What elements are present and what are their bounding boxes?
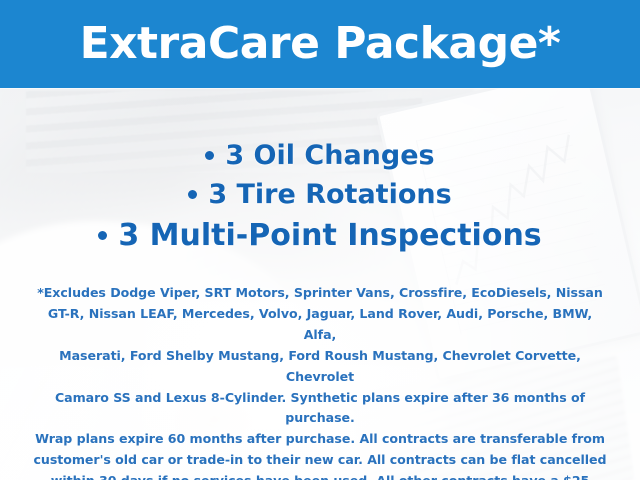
benefits-list: 3 Oil Changes 3 Tire Rotations 3 Multi-P… [0,140,640,253]
bullet-dot-icon [188,190,197,199]
disclaimer-text: *Excludes Dodge Viper, SRT Motors, Sprin… [33,283,608,480]
benefit-label: 3 Multi-Point Inspections [118,218,541,253]
header-banner: ExtraCare Package* [0,0,640,88]
benefit-item-oil-changes: 3 Oil Changes [205,140,434,172]
extracare-package-ad: ExtraCare Package* 3 Oil Changes 3 Tire … [0,0,640,480]
disclaimer-line: customer's old car or trade-in to their … [33,450,608,471]
page-title: ExtraCare Package* [80,22,561,66]
bullet-dot-icon [98,231,107,240]
disclaimer-line: Maserati, Ford Shelby Mustang, Ford Rous… [33,346,608,388]
disclaimer-line: GT-R, Nissan LEAF, Mercedes, Volvo, Jagu… [33,304,608,346]
benefit-label: 3 Tire Rotations [208,179,451,211]
disclaimer-line: *Excludes Dodge Viper, SRT Motors, Sprin… [33,283,608,304]
bullet-dot-icon [205,151,214,160]
disclaimer-line: within 30 days if no services have been … [33,471,608,480]
benefit-item-tire-rotations: 3 Tire Rotations [188,179,451,211]
disclaimer-line: Wrap plans expire 60 months after purcha… [33,429,608,450]
benefit-item-multi-point-inspections: 3 Multi-Point Inspections [98,218,541,253]
benefit-label: 3 Oil Changes [225,140,434,172]
disclaimer-line: Camaro SS and Lexus 8-Cylinder. Syntheti… [33,388,608,430]
